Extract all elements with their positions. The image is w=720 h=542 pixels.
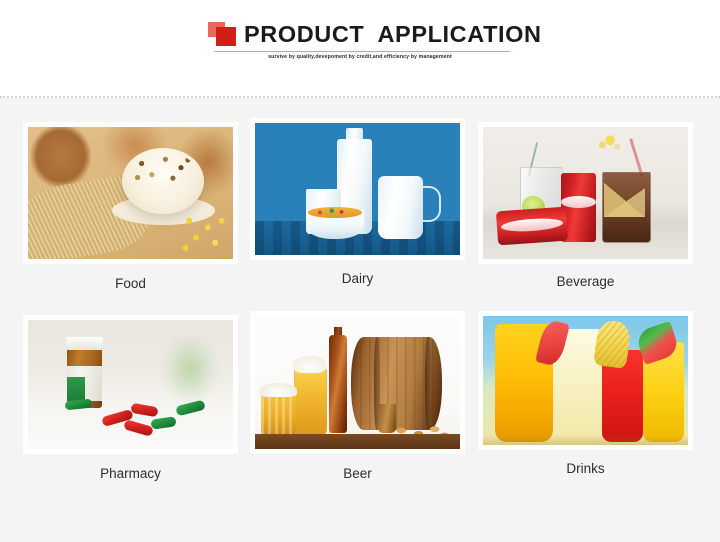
- product-label-drinks: Drinks: [478, 461, 693, 476]
- product-card-beverage[interactable]: [478, 122, 693, 264]
- product-label-beer: Beer: [250, 466, 465, 481]
- logo-row: PRODUCT APPLICATION: [208, 18, 512, 50]
- logo-square-front: [216, 27, 236, 46]
- pharmacy-bottle-cap-shape: [66, 337, 103, 350]
- product-photo-beer: [255, 316, 460, 449]
- product-card-pharmacy[interactable]: [23, 315, 238, 454]
- pharmacy-background-blur-shape: [163, 335, 216, 402]
- page-title-primary: PRODUCT: [244, 21, 364, 47]
- product-card-food[interactable]: [23, 122, 238, 264]
- product-application-grid: Food Dairy Beverage: [0, 98, 720, 542]
- beer-table-shape: [255, 434, 460, 449]
- two-overlapping-squares-icon: [208, 20, 238, 48]
- pharmacy-capsule-red-2: [130, 403, 158, 417]
- pharmacy-capsule-red-3: [123, 419, 153, 437]
- product-card-dairy[interactable]: [250, 118, 465, 260]
- product-card-drinks[interactable]: [478, 311, 693, 450]
- product-card-beer[interactable]: [250, 311, 465, 454]
- pharmacy-bottle-label-band-shape: [67, 377, 85, 402]
- beer-glass-shape: [294, 369, 327, 435]
- beer-mug-shape: [261, 393, 296, 436]
- product-photo-drinks: [483, 316, 688, 445]
- title-underline-rule: [214, 51, 510, 52]
- product-label-pharmacy: Pharmacy: [23, 466, 238, 481]
- page-title: PRODUCT APPLICATION: [244, 20, 542, 48]
- beer-glass-foam-shape: [293, 356, 326, 373]
- product-photo-pharmacy: [28, 320, 233, 449]
- beverage-straw-right-shape: [629, 138, 643, 177]
- logo-block: PRODUCT APPLICATION survive by quality,d…: [208, 18, 512, 50]
- pharmacy-capsule-green-behind: [64, 399, 91, 411]
- page-title-secondary: APPLICATION: [377, 21, 541, 47]
- food-cereal-bits-shape: [128, 153, 196, 187]
- page-header: PRODUCT APPLICATION survive by quality,d…: [0, 0, 720, 97]
- product-photo-beverage: [483, 127, 688, 259]
- beer-bottle-shape: [329, 335, 347, 433]
- beverage-flower-shape: [596, 135, 625, 164]
- product-label-beverage: Beverage: [478, 274, 693, 289]
- product-photo-food: [28, 127, 233, 259]
- beverage-can-standing-wave-shape: [561, 196, 596, 208]
- pharmacy-capsule-green-1: [150, 416, 176, 429]
- beverage-ice-shape: [604, 177, 645, 217]
- product-label-food: Food: [23, 276, 238, 291]
- drinks-bottom-shadow-shape: [483, 435, 688, 445]
- drinks-pineapple-slice-shape: [593, 319, 632, 370]
- product-photo-dairy: [255, 123, 460, 255]
- beer-barrel-hoop-2: [425, 337, 431, 430]
- dairy-jug-shape: [378, 176, 423, 239]
- dairy-cereal-shape: [308, 207, 361, 218]
- product-label-dairy: Dairy: [250, 271, 465, 286]
- page-subtitle: survive by quality,devepoment by credit,…: [208, 54, 512, 60]
- beer-mug-foam-shape: [260, 383, 297, 398]
